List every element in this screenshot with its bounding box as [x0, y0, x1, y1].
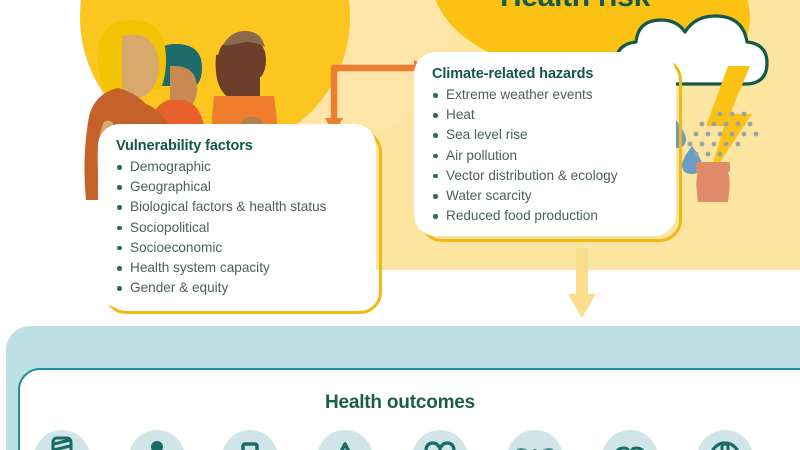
list-item: Gender & equity: [116, 278, 376, 298]
hazards-card-title: Climate-related hazards: [432, 66, 676, 82]
list-item: Extreme weather events: [432, 85, 676, 105]
outcome-icon-heart[interactable]: [412, 430, 468, 450]
kidneys-icon: [602, 430, 658, 450]
outcome-icon-injury[interactable]: [34, 430, 90, 450]
infographic-canvas: Health risk: [0, 0, 800, 450]
vulnerability-factors-card: Vulnerability factors Demographic Geogra…: [98, 124, 376, 308]
list-item: Health system capacity: [116, 258, 376, 278]
climate-hazards-card: Climate-related hazards Extreme weather …: [414, 52, 676, 236]
injury-bandage-icon: [34, 430, 90, 450]
medicine-box-icon: [222, 430, 278, 450]
list-item: Air pollution: [432, 146, 676, 166]
list-item: Vector distribution & ecology: [432, 166, 676, 186]
outcome-icon-medicine[interactable]: [222, 430, 278, 450]
outcome-icon-kidneys[interactable]: [602, 430, 658, 450]
hazards-list: Extreme weather events Heat Sea level ri…: [432, 85, 676, 226]
outcome-icon-stomach[interactable]: [697, 430, 753, 450]
list-item: Demographic: [116, 157, 376, 177]
outcome-icon-person[interactable]: [129, 430, 185, 450]
vulnerability-card-title: Vulnerability factors: [116, 138, 376, 154]
list-item: Heat: [432, 105, 676, 125]
list-item: Sea level rise: [432, 125, 676, 145]
mosquito-icon: [507, 430, 563, 450]
health-risk-title: Health risk: [430, 0, 720, 14]
list-item: Socioeconomic: [116, 238, 376, 258]
list-item: Geographical: [116, 177, 376, 197]
stomach-icon: [697, 430, 753, 450]
health-outcomes-title: Health outcomes: [0, 392, 800, 414]
list-item: Biological factors & health status: [116, 197, 376, 217]
list-item: Water scarcity: [432, 186, 676, 206]
outcome-icon-vector-borne[interactable]: [507, 430, 563, 450]
person-icon: [129, 430, 185, 450]
vulnerability-list: Demographic Geographical Biological fact…: [116, 157, 376, 298]
lungs-chevron-icon: [317, 430, 373, 450]
list-item: Reduced food production: [432, 206, 676, 226]
down-arrow-to-outcomes: [567, 248, 597, 320]
list-item: Sociopolitical: [116, 218, 376, 238]
outcome-icon-respiratory[interactable]: [317, 430, 373, 450]
heart-icon: [412, 430, 468, 450]
